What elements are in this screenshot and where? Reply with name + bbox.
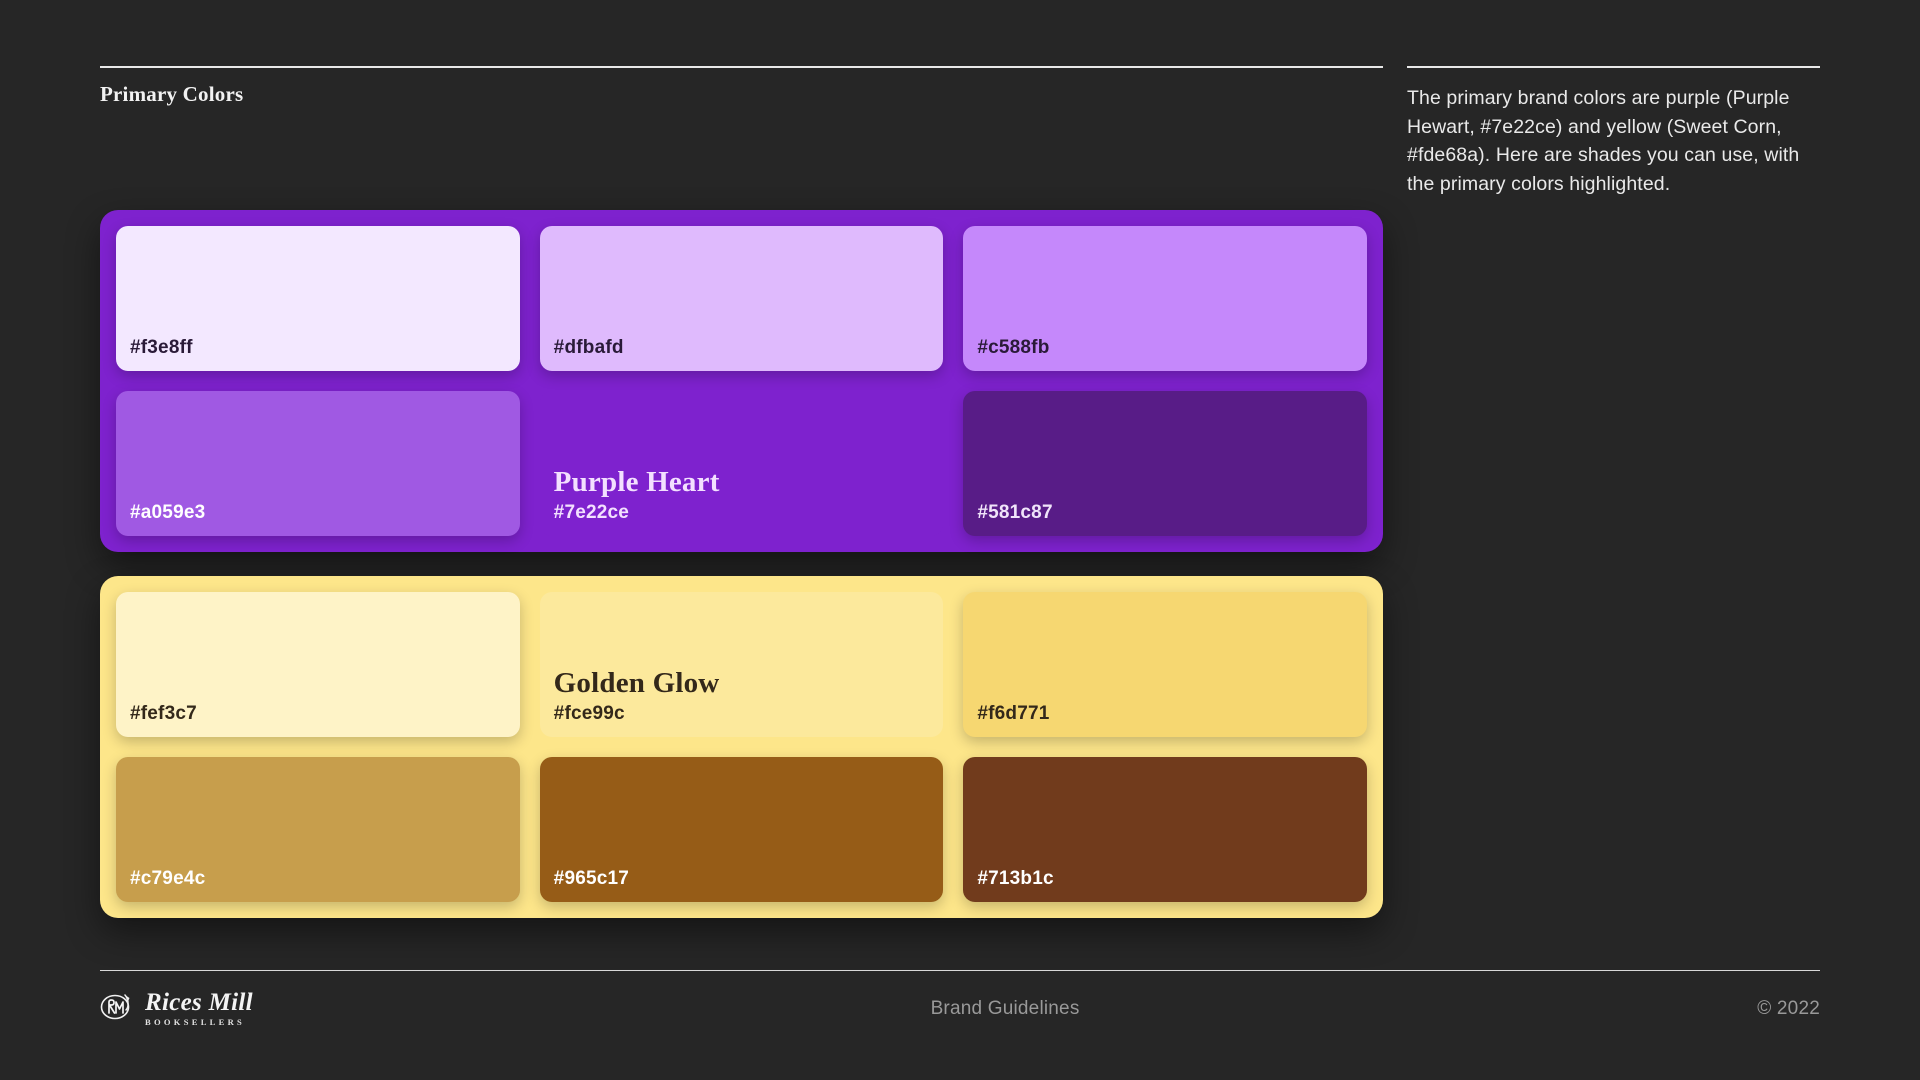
header-divider-left xyxy=(100,66,1383,68)
brand-subtitle: BOOKSELLERS xyxy=(145,1018,253,1027)
swatch-hex: #7e22ce xyxy=(554,503,930,524)
color-swatch-primary-purple[interactable]: Purple Heart #7e22ce xyxy=(540,391,944,536)
palette-row: #c79e4c #965c17 #713b1c xyxy=(116,757,1367,902)
header-left-column: Primary Colors xyxy=(100,66,1383,198)
swatch-hex: #c588fb xyxy=(977,338,1353,359)
header-right-column: The primary brand colors are purple (Pur… xyxy=(1407,66,1820,198)
palette-row: #a059e3 Purple Heart #7e22ce #581c87 xyxy=(116,391,1367,536)
swatch-name: Purple Heart xyxy=(554,466,930,500)
page-header: Primary Colors The primary brand colors … xyxy=(100,66,1820,198)
swatch-hex: #965c17 xyxy=(554,869,930,890)
swatch-hex: #a059e3 xyxy=(130,503,506,524)
swatch-hex: #581c87 xyxy=(977,503,1353,524)
swatch-hex: #f6d771 xyxy=(977,704,1353,725)
palette-purple: #f3e8ff #dfbafd #c588fb #a059e3 Purple H… xyxy=(100,210,1383,552)
palette-row: #fef3c7 Golden Glow #fce99c #f6d771 xyxy=(116,592,1367,737)
header-divider-right xyxy=(1407,66,1820,68)
page-title: Primary Colors xyxy=(100,82,1383,107)
footer-document-label: Brand Guidelines xyxy=(931,998,1080,1020)
brand-text: Rices Mill BOOKSELLERS xyxy=(145,990,253,1027)
brand-logo[interactable]: Rices Mill BOOKSELLERS xyxy=(100,989,253,1028)
color-swatch[interactable]: #f6d771 xyxy=(963,592,1367,737)
color-swatch[interactable]: #713b1c xyxy=(963,757,1367,902)
brand-name: Rices Mill xyxy=(145,990,253,1015)
color-swatch[interactable]: #a059e3 xyxy=(116,391,520,536)
footer-copyright: © 2022 xyxy=(1757,998,1820,1020)
footer-divider xyxy=(100,970,1820,972)
footer-content: Rices Mill BOOKSELLERS Brand Guidelines … xyxy=(100,989,1820,1028)
swatch-hex: #fef3c7 xyxy=(130,704,506,725)
swatch-hex: #c79e4c xyxy=(130,869,506,890)
swatch-hex: #fce99c xyxy=(554,704,930,725)
palette-yellow: #fef3c7 Golden Glow #fce99c #f6d771 #c79… xyxy=(100,576,1383,918)
swatch-hex: #713b1c xyxy=(977,869,1353,890)
swatch-name: Golden Glow xyxy=(554,667,930,701)
color-swatch[interactable]: #dfbafd xyxy=(540,226,944,371)
swatch-hex: #dfbafd xyxy=(554,338,930,359)
brand-guidelines-page: Primary Colors The primary brand colors … xyxy=(0,0,1920,1080)
swatch-hex: #f3e8ff xyxy=(130,338,506,359)
color-swatch[interactable]: #c79e4c xyxy=(116,757,520,902)
color-swatch-primary-yellow[interactable]: Golden Glow #fce99c xyxy=(540,592,944,737)
color-palettes: #f3e8ff #dfbafd #c588fb #a059e3 Purple H… xyxy=(100,210,1383,918)
color-swatch[interactable]: #581c87 xyxy=(963,391,1367,536)
color-swatch[interactable]: #c588fb xyxy=(963,226,1367,371)
color-swatch[interactable]: #fef3c7 xyxy=(116,592,520,737)
palette-row: #f3e8ff #dfbafd #c588fb xyxy=(116,226,1367,371)
color-swatch[interactable]: #965c17 xyxy=(540,757,944,902)
rices-mill-monogram-icon xyxy=(100,989,136,1028)
intro-description: The primary brand colors are purple (Pur… xyxy=(1407,84,1820,198)
page-footer: Rices Mill BOOKSELLERS Brand Guidelines … xyxy=(100,970,1820,1029)
color-swatch[interactable]: #f3e8ff xyxy=(116,226,520,371)
